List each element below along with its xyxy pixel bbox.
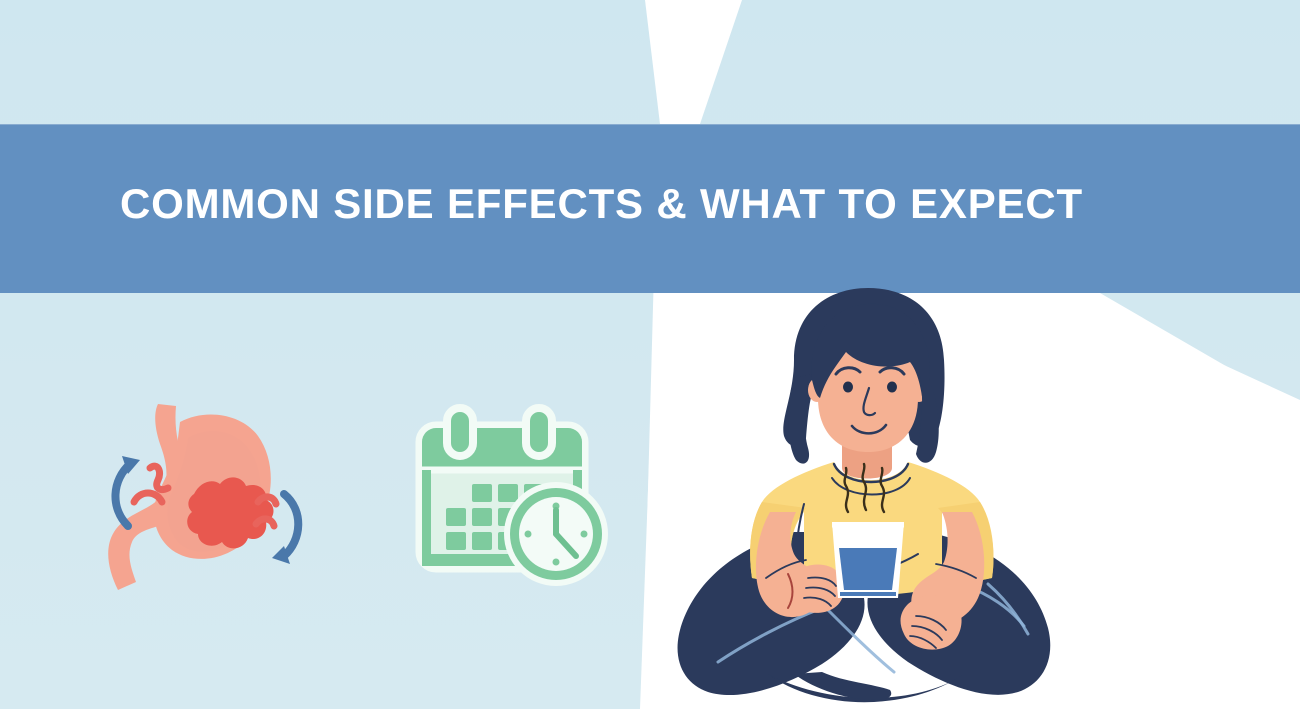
calendar-cell	[472, 508, 492, 526]
water-glass-fill	[839, 548, 897, 590]
stomach-discomfort-icon	[88, 398, 328, 598]
calendar-cell	[472, 532, 492, 550]
hand-right	[901, 595, 962, 650]
foot-left	[794, 672, 891, 700]
eye-left	[843, 382, 853, 393]
page-title: COMMON SIDE EFFECTS & WHAT TO EXPECT	[120, 183, 1220, 225]
eye-right	[887, 382, 897, 393]
discomfort-squiggle-left-2	[134, 493, 162, 502]
calendar-ring-left-outline	[447, 408, 473, 456]
calendar-cell	[446, 508, 466, 526]
clock-marker-bottom	[553, 559, 560, 566]
clock-marker-right	[581, 531, 588, 538]
clock-marker-left	[525, 531, 532, 538]
calendar-clock-icon	[408, 404, 628, 594]
calendar-cell	[446, 532, 466, 550]
seated-woman-with-water-illustration	[636, 286, 1106, 709]
infographic-slide: COMMON SIDE EFFECTS & WHAT TO EXPECT	[0, 0, 1300, 709]
calendar-cell	[472, 484, 492, 502]
stomach-inflammation-blob	[187, 477, 273, 548]
beam-upper-wedge	[645, 0, 742, 124]
nausea-arrow-right	[284, 494, 298, 556]
discomfort-squiggle-left-1	[150, 466, 168, 489]
calendar-left-border	[422, 470, 431, 566]
calendar-ring-right-outline	[526, 408, 552, 456]
calendar-cell	[498, 484, 518, 502]
